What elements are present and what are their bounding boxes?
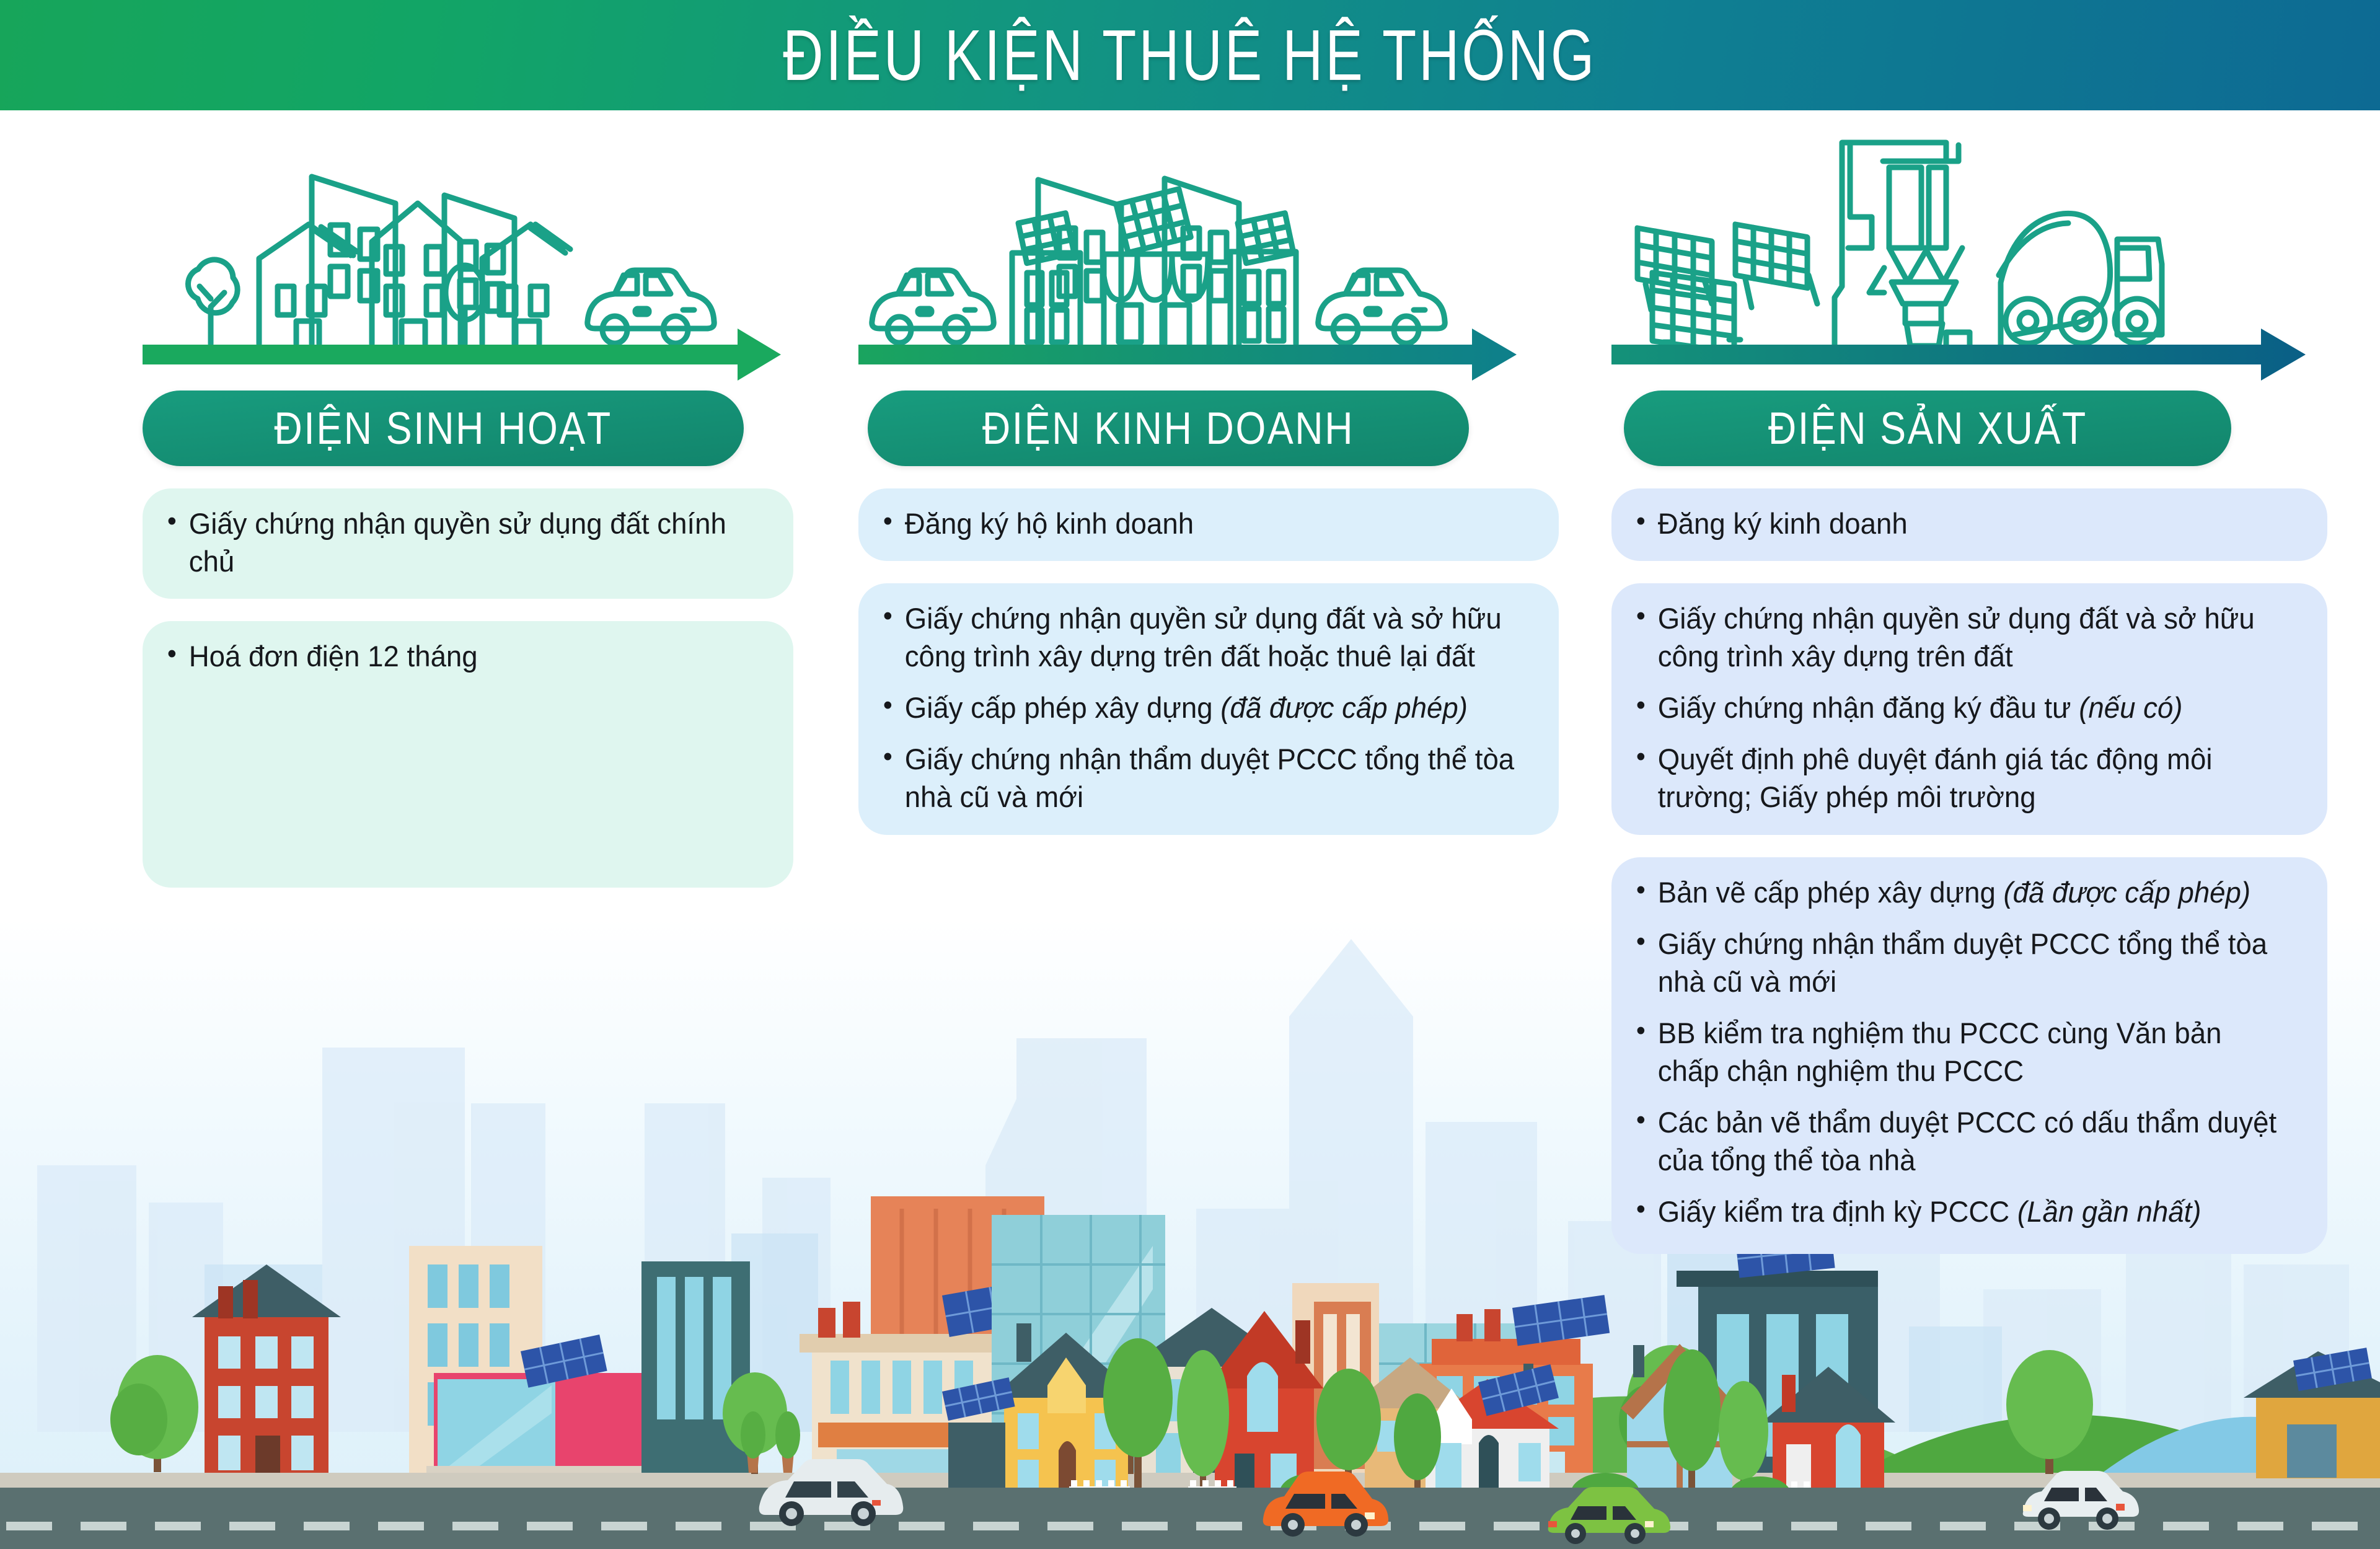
pill-dien-sinh-hoat[interactable]: ĐIỆN SINH HOẠT <box>143 391 744 466</box>
list-item: Các bản vẽ thẩm duyệt PCCC có dấu thẩm d… <box>1633 1103 2283 1179</box>
list-item: Giấy kiểm tra định kỳ PCCC (Lần gần nhất… <box>1633 1193 2283 1230</box>
requirement-list: Đăng ký hộ kinh doanh <box>879 505 1534 542</box>
list-item: Giấy chứng nhận quyền sử dụng đất chính … <box>164 505 751 580</box>
requirement-box: Giấy chứng nhận quyền sử dụng đất và sở … <box>858 583 1559 834</box>
requirement-boxes-col2: Đăng ký hộ kinh doanh Giấy chứng nhận qu… <box>858 488 1559 835</box>
commercial-illustration <box>858 124 1559 384</box>
road <box>0 1488 2380 1549</box>
requirement-list: Hoá đơn điện 12 tháng <box>164 637 769 675</box>
pill-dien-san-xuat[interactable]: ĐIỆN SẢN XUẤT <box>1624 391 2231 466</box>
requirement-boxes-col1: Giấy chứng nhận quyền sử dụng đất chính … <box>143 488 812 888</box>
pill-label: ĐIỆN SINH HOẠT <box>274 403 612 454</box>
list-item: Đăng ký hộ kinh doanh <box>879 505 1514 542</box>
residential-illustration <box>143 124 812 384</box>
requirement-boxes-col3: Đăng ký kinh doanh Giấy chứng nhận quyền… <box>1611 488 2343 1254</box>
list-item: Giấy chứng nhận đăng ký đầu tư (nếu có) <box>1633 689 2283 726</box>
list-item: Giấy chứng nhận thẩm duyệt PCCC tổng thể… <box>1633 925 2283 1000</box>
industrial-illustration <box>1611 124 2343 384</box>
list-item: Hoá đơn điện 12 tháng <box>164 637 751 675</box>
requirement-box: Bản vẽ cấp phép xây dựng (đã được cấp ph… <box>1611 857 2327 1254</box>
requirement-box: Đăng ký hộ kinh doanh <box>858 488 1559 561</box>
requirement-list: Đăng ký kinh doanh <box>1633 505 2303 542</box>
requirement-box: Hoá đơn điện 12 tháng <box>143 621 793 888</box>
pill-dien-kinh-doanh[interactable]: ĐIỆN KINH DOANH <box>868 391 1469 466</box>
requirement-box: Giấy chứng nhận quyền sử dụng đất chính … <box>143 488 793 599</box>
requirement-box: Giấy chứng nhận quyền sử dụng đất và sở … <box>1611 583 2327 834</box>
pill-label: ĐIỆN KINH DOANH <box>982 403 1354 454</box>
column-dien-kinh-doanh: ĐIỆN KINH DOANH Đăng ký hộ kinh doanh Gi… <box>858 124 1559 857</box>
requirement-list: Giấy chứng nhận quyền sử dụng đất chính … <box>164 505 769 580</box>
pill-label: ĐIỆN SẢN XUẤT <box>1768 403 2087 454</box>
column-dien-sinh-hoat: ĐIỆN SINH HOẠT Giấy chứng nhận quyền sử … <box>143 124 812 910</box>
column-dien-san-xuat: ĐIỆN SẢN XUẤT Đăng ký kinh doanh Giấy ch… <box>1611 124 2343 1276</box>
page-title: ĐIỀU KIỆN THUÊ HỆ THỐNG <box>783 14 1597 97</box>
list-item: Bản vẽ cấp phép xây dựng (đã được cấp ph… <box>1633 873 2283 911</box>
list-item: Giấy chứng nhận thẩm duyệt PCCC tổng thể… <box>879 740 1514 816</box>
list-item: BB kiểm tra nghiệm thu PCCC cùng Văn bản… <box>1633 1014 2283 1090</box>
list-item: Quyết định phê duyệt đánh giá tác động m… <box>1633 740 2283 816</box>
requirement-list: Giấy chứng nhận quyền sử dụng đất và sở … <box>879 599 1534 816</box>
list-item: Giấy chứng nhận quyền sử dụng đất và sở … <box>879 599 1514 675</box>
requirement-box: Đăng ký kinh doanh <box>1611 488 2327 561</box>
list-item: Đăng ký kinh doanh <box>1633 505 2283 542</box>
requirement-list: Bản vẽ cấp phép xây dựng (đã được cấp ph… <box>1633 873 2303 1231</box>
header-bar: ĐIỀU KIỆN THUÊ HỆ THỐNG <box>0 0 2380 110</box>
requirement-list: Giấy chứng nhận quyền sử dụng đất và sở … <box>1633 599 2303 816</box>
list-item: Giấy chứng nhận quyền sử dụng đất và sở … <box>1633 599 2283 675</box>
list-item: Giấy cấp phép xây dựng (đã được cấp phép… <box>879 689 1514 726</box>
